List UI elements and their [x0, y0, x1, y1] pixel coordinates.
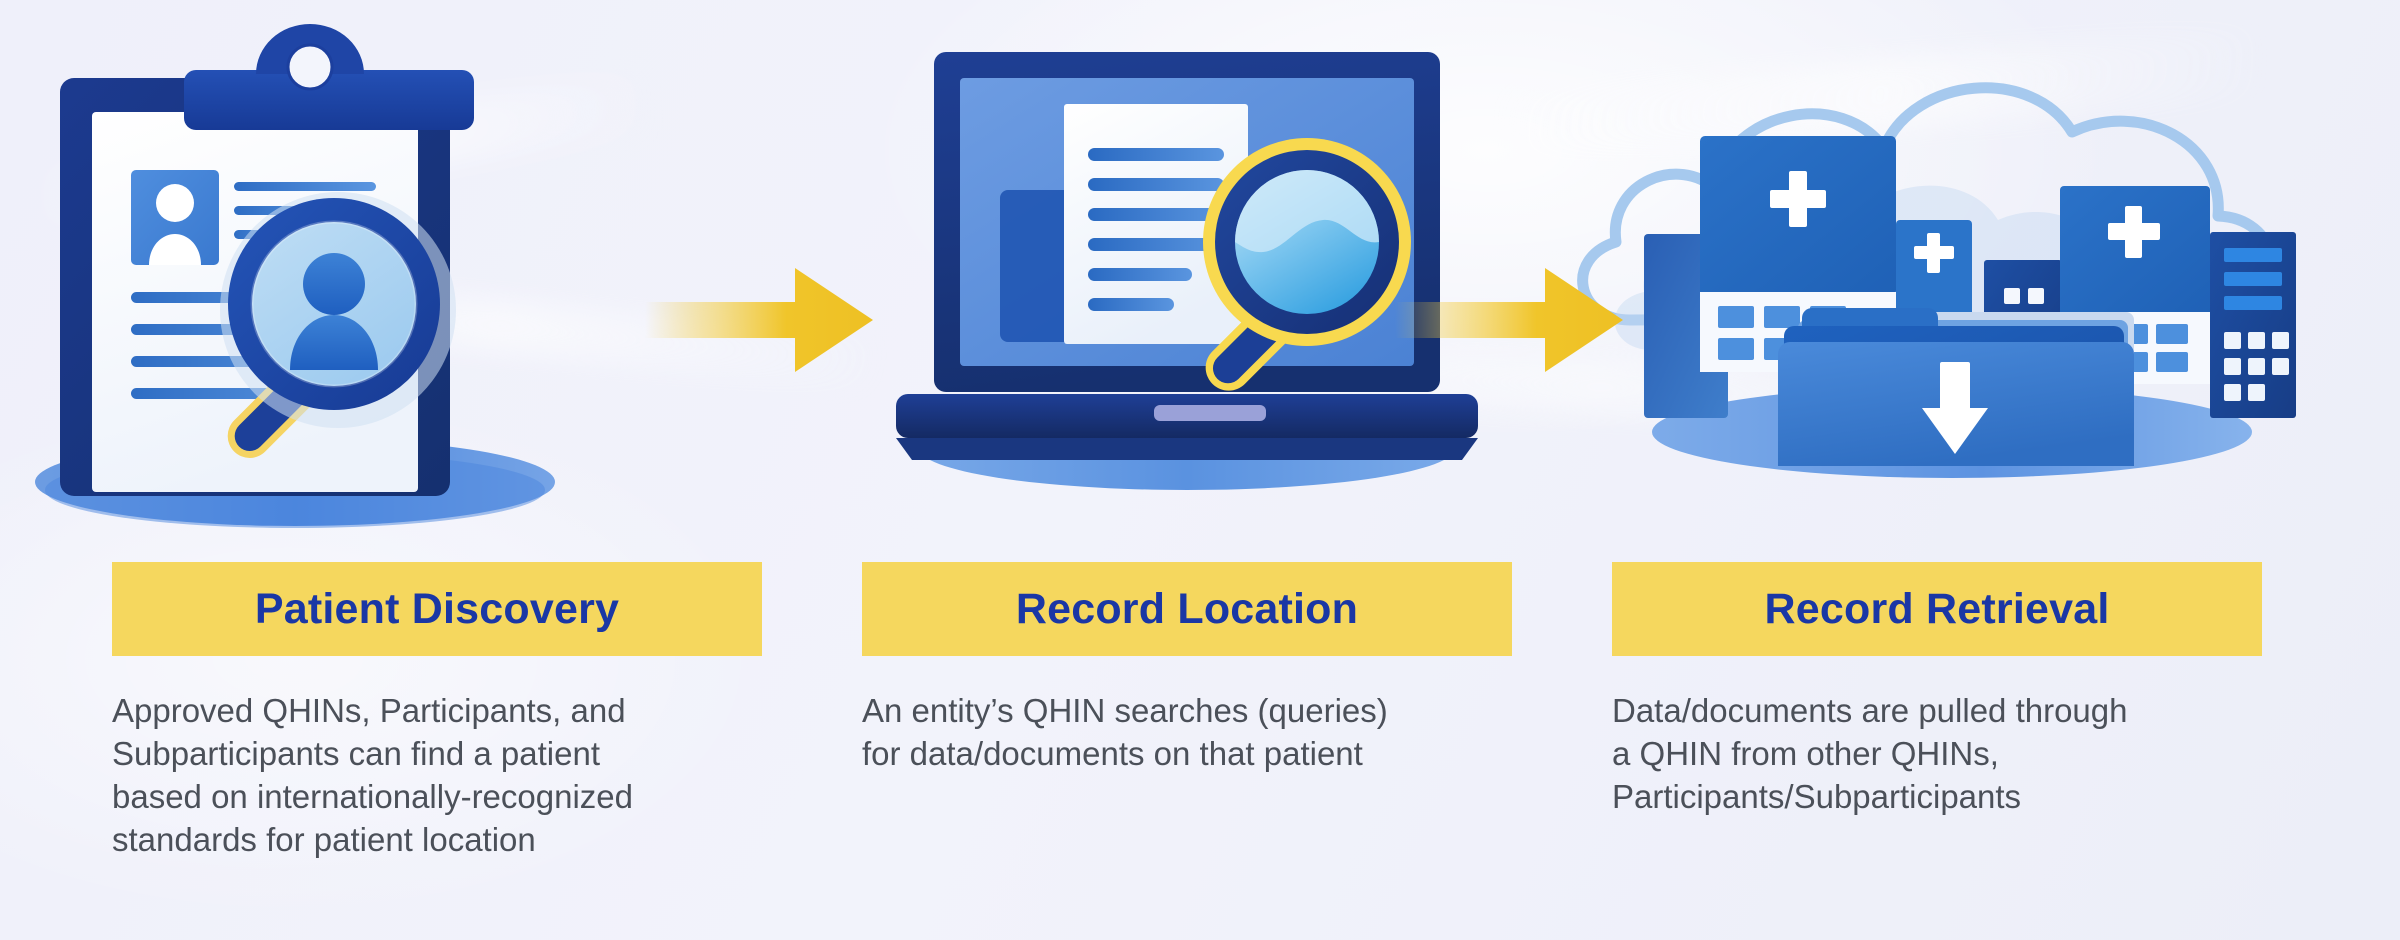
- step-description: Approved QHINs, Participants, and Subpar…: [112, 690, 732, 862]
- step-banner-record-retrieval: Record Retrieval: [1612, 562, 2262, 656]
- step-card-record-retrieval: Record Retrieval Data/documents are pull…: [1612, 0, 2262, 940]
- step-description: Data/documents are pulled through a QHIN…: [1612, 690, 2232, 819]
- step-title: Record Location: [1016, 585, 1358, 634]
- step-banner-patient-discovery: Patient Discovery: [112, 562, 762, 656]
- step-banner-record-location: Record Location: [862, 562, 1512, 656]
- clipboard-patient-record-magnifier-icon: [0, 20, 874, 540]
- step-card-patient-discovery: Patient Discovery Approved QHINs, Partic…: [112, 0, 762, 940]
- hospital-cloud-folder-download-icon: [1512, 20, 2392, 540]
- laptop-document-magnifier-icon: [762, 20, 1612, 540]
- step-title: Patient Discovery: [255, 585, 619, 634]
- infographic-stage: Patient Discovery Approved QHINs, Partic…: [0, 0, 2400, 940]
- step-card-record-location: Record Location An entity’s QHIN searche…: [862, 0, 1512, 940]
- step-title: Record Retrieval: [1765, 585, 2110, 634]
- step-description: An entity’s QHIN searches (queries) for …: [862, 690, 1482, 776]
